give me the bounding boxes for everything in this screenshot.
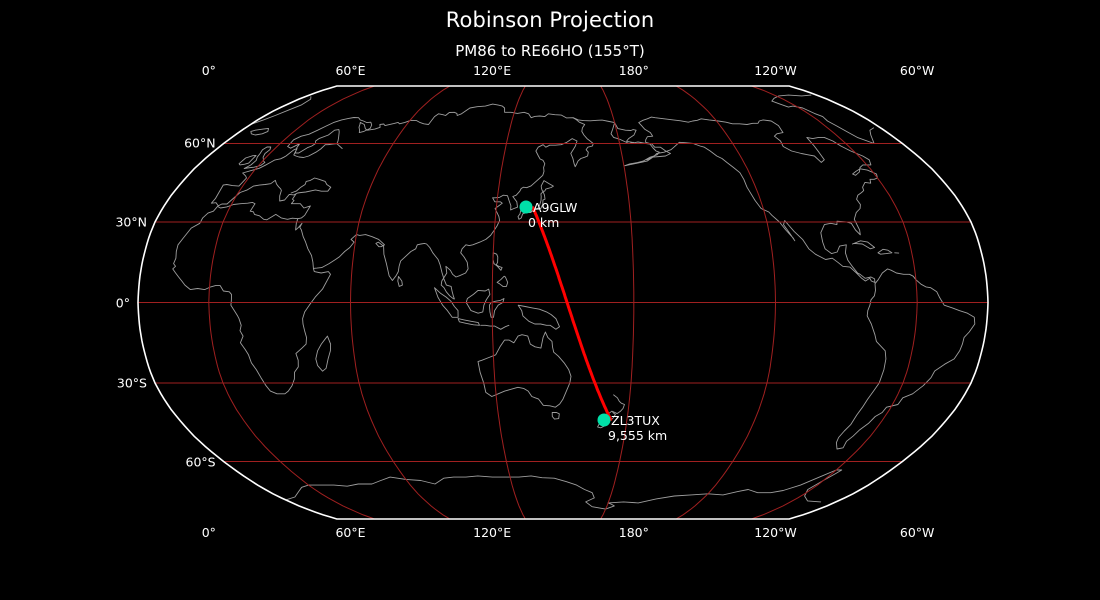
bottom-tick-label: 120°E xyxy=(473,525,511,540)
station-callsign-label: A9GLW xyxy=(533,200,577,215)
coastline xyxy=(466,289,490,313)
world-map-svg xyxy=(0,0,1100,600)
top-tick-label: 120°W xyxy=(754,63,796,78)
coastline xyxy=(852,241,874,249)
station-distance-label: 9,555 km xyxy=(608,428,667,443)
coastline xyxy=(316,336,331,371)
left-tick-label: 60°N xyxy=(152,136,216,151)
map-figure: Robinson Projection PM86 to RE66HO (155°… xyxy=(0,0,1100,600)
left-tick-label: 30°N xyxy=(83,214,147,229)
coastline xyxy=(493,253,502,270)
coastline xyxy=(541,181,553,192)
coastline xyxy=(481,325,509,329)
left-tick-label: 60°S xyxy=(152,454,216,469)
coastline xyxy=(251,128,269,135)
coastline xyxy=(836,269,974,449)
coastline xyxy=(518,305,559,329)
coastline xyxy=(552,413,559,420)
bottom-tick-label: 60°W xyxy=(900,525,935,540)
coastline xyxy=(458,319,479,326)
top-tick-label: 60°W xyxy=(900,63,935,78)
bottom-tick-label: 0° xyxy=(202,525,216,540)
left-tick-label: 0° xyxy=(66,295,130,310)
station-distance-label: 0 km xyxy=(528,215,559,230)
coastline xyxy=(478,332,571,407)
coastline xyxy=(286,470,842,509)
station-marker-zl3tux[interactable] xyxy=(598,414,611,427)
coastline xyxy=(244,147,271,169)
top-tick-label: 0° xyxy=(202,63,216,78)
coastline xyxy=(878,249,892,254)
top-tick-label: 120°E xyxy=(473,63,511,78)
coastline xyxy=(625,117,878,282)
coastline xyxy=(211,178,330,206)
coastline xyxy=(337,144,342,149)
left-tick-label: 30°S xyxy=(83,376,147,391)
top-tick-label: 60°E xyxy=(335,63,365,78)
bottom-tick-label: 180° xyxy=(619,525,649,540)
coastline xyxy=(497,276,508,286)
coastline xyxy=(239,156,256,165)
station-callsign-label: ZL3TUX xyxy=(611,413,660,428)
station-marker-a9glw[interactable] xyxy=(520,201,533,214)
coastline xyxy=(223,104,659,186)
coastline xyxy=(398,277,403,287)
top-tick-label: 180° xyxy=(619,63,649,78)
coastline xyxy=(173,202,331,393)
graticule-layer xyxy=(138,86,988,519)
bottom-tick-label: 60°E xyxy=(335,525,365,540)
coastline xyxy=(489,299,504,318)
great-circle-path xyxy=(533,208,611,420)
bottom-tick-label: 120°W xyxy=(754,525,796,540)
